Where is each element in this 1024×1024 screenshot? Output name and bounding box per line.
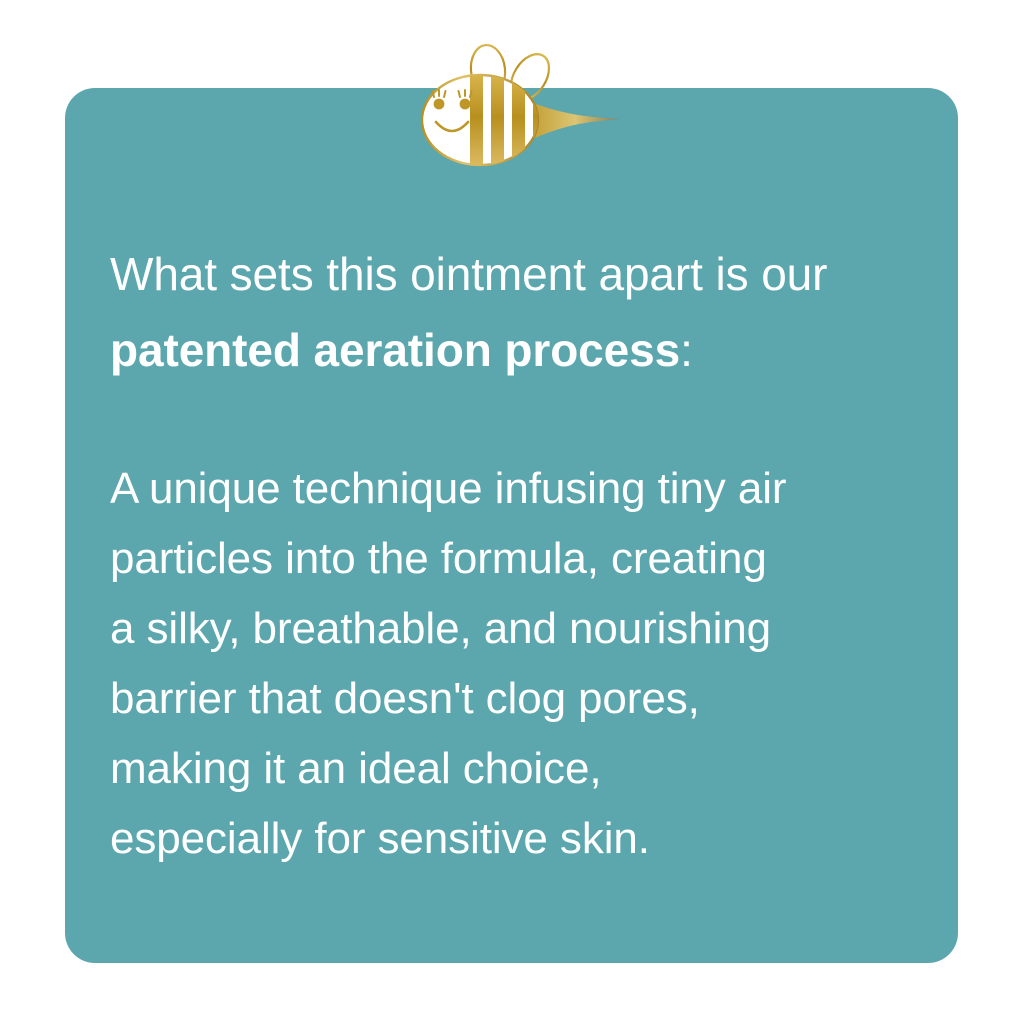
body-paragraph: A unique technique infusing tiny air par… [110, 388, 930, 874]
paragraph-line-3: a silky, breathable, and nourishing [110, 594, 930, 664]
product-infographic-canvas: What sets this ointment apart is our pat… [0, 0, 1024, 1024]
copy-block: What sets this ointment apart is our pat… [110, 236, 930, 874]
headline-emphasis: patented aeration process [110, 324, 680, 376]
paragraph-line-5: making it an ideal choice, [110, 734, 930, 804]
paragraph-line-4: barrier that doesn't clog pores, [110, 664, 930, 734]
headline-lead: What sets this ointment apart is our [110, 248, 827, 300]
paragraph-line-6: especially for sensitive skin. [110, 804, 930, 874]
headline: What sets this ointment apart is our pat… [110, 236, 930, 388]
paragraph-line-2: particles into the formula, creating [110, 524, 930, 594]
headline-trail: : [680, 324, 693, 376]
paragraph-line-1: A unique technique infusing tiny air [110, 454, 930, 524]
